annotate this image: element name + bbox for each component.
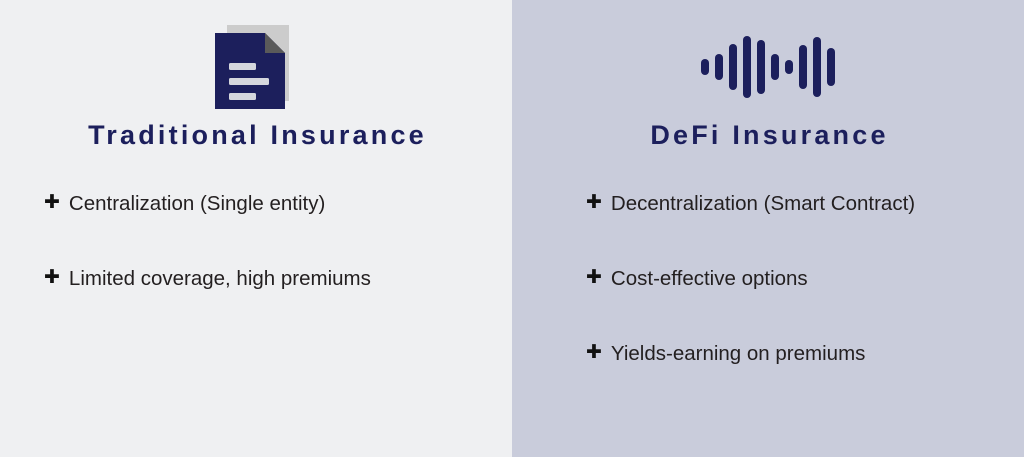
- page-title-defi: DeFi Insurance: [650, 122, 888, 149]
- audio-waveform-icon: [701, 32, 835, 102]
- list-item-label: Cost-effective options: [611, 264, 996, 293]
- traditional-insurance-panel: Traditional Insurance ✚ Centralization (…: [0, 0, 512, 457]
- waveform-bar: [743, 36, 751, 98]
- traditional-icon-container: [0, 0, 512, 120]
- defi-insurance-panel: DeFi Insurance ✚ Decentralization (Smart…: [512, 0, 1024, 457]
- list-item-label: Limited coverage, high premiums: [69, 264, 402, 293]
- list-item: ✚ Limited coverage, high premiums: [44, 264, 402, 293]
- plus-icon: ✚: [44, 264, 60, 291]
- waveform-bar: [757, 40, 765, 94]
- list-item-label: Yields-earning on premiums: [611, 339, 996, 368]
- list-item: ✚ Centralization (Single entity): [44, 189, 402, 218]
- list-item-label: Decentralization (Smart Contract): [611, 189, 996, 218]
- comparison-slide: Traditional Insurance ✚ Centralization (…: [0, 0, 1024, 457]
- list-item: ✚ Yields-earning on premiums: [586, 339, 996, 368]
- waveform-bar: [785, 60, 793, 74]
- waveform-bar: [771, 54, 779, 80]
- waveform-bar: [701, 59, 709, 75]
- plus-icon: ✚: [586, 339, 602, 366]
- plus-icon: ✚: [586, 189, 602, 216]
- waveform-bar: [799, 45, 807, 89]
- page-title-traditional: Traditional Insurance: [88, 122, 427, 149]
- waveform-bar: [827, 48, 835, 86]
- document-icon: [213, 23, 299, 111]
- plus-icon: ✚: [586, 264, 602, 291]
- list-item: ✚ Decentralization (Smart Contract): [586, 189, 996, 218]
- plus-icon: ✚: [44, 189, 60, 216]
- waveform-bar: [813, 37, 821, 97]
- traditional-feature-list: ✚ Centralization (Single entity) ✚ Limit…: [0, 189, 512, 293]
- defi-feature-list: ✚ Decentralization (Smart Contract) ✚ Co…: [512, 189, 1024, 368]
- list-item: ✚ Cost-effective options: [586, 264, 996, 293]
- waveform-bar: [715, 54, 723, 80]
- waveform-bar: [729, 44, 737, 90]
- defi-icon-container: [512, 0, 1024, 120]
- list-item-label: Centralization (Single entity): [69, 189, 402, 218]
